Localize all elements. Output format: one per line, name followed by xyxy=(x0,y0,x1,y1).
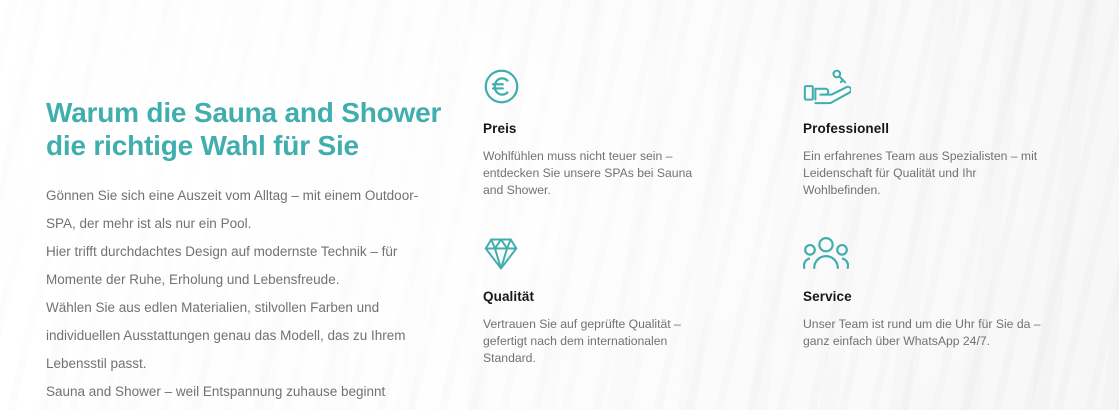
heading-line-2: die richtige Wahl für Sie xyxy=(46,130,359,161)
feature-card-preis: Preis Wohlfühlen muss nicht teuer sein –… xyxy=(483,68,803,236)
intro-paragraph: Gönnen Sie sich eine Auszeit vom Alltag … xyxy=(46,182,446,238)
feature-card-service: Service Unser Team ist rund um die Uhr f… xyxy=(803,236,1083,367)
euro-circle-icon xyxy=(483,68,803,108)
feature-description: Ein erfahrenes Team aus Spezialisten – m… xyxy=(803,148,1053,199)
intro-paragraph: Wählen Sie aus edlen Materialien, stilvo… xyxy=(46,294,446,378)
feature-title: Professionell xyxy=(803,121,1083,136)
feature-description: Vertrauen Sie auf geprüfte Qualität – ge… xyxy=(483,316,698,367)
feature-title: Qualität xyxy=(483,289,803,304)
intro-paragraphs: Gönnen Sie sich eine Auszeit vom Alltag … xyxy=(46,182,446,406)
feature-title: Service xyxy=(803,289,1083,304)
intro-column: Warum die Sauna and Shower die richtige … xyxy=(46,96,446,406)
feature-card-qualitaet: Qualität Vertrauen Sie auf geprüfte Qual… xyxy=(483,236,803,367)
diamond-icon xyxy=(483,236,803,276)
feature-grid: Preis Wohlfühlen muss nicht teuer sein –… xyxy=(483,68,1083,367)
feature-description: Unser Team ist rund um die Uhr für Sie d… xyxy=(803,316,1053,350)
page-title: Warum die Sauna and Shower die richtige … xyxy=(46,96,446,162)
why-choose-us-section: Warum die Sauna and Shower die richtige … xyxy=(0,0,1119,410)
hand-holding-key-icon xyxy=(803,68,1083,108)
heading-line-1: Warum die Sauna and Shower xyxy=(46,97,441,128)
intro-paragraph: Sauna and Shower – weil Entspannung zuha… xyxy=(46,378,446,406)
feature-card-professionell: Professionell Ein erfahrenes Team aus Sp… xyxy=(803,68,1083,236)
intro-paragraph: Hier trifft durchdachtes Design auf mode… xyxy=(46,238,446,294)
feature-description: Wohlfühlen muss nicht teuer sein – entde… xyxy=(483,148,698,199)
people-group-icon xyxy=(803,236,1083,276)
feature-title: Preis xyxy=(483,121,803,136)
